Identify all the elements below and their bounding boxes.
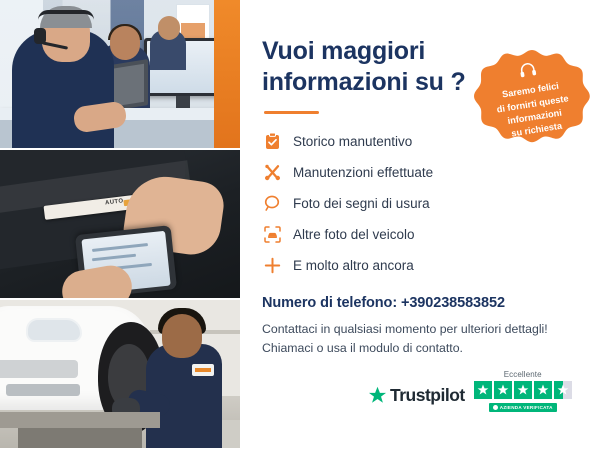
- verified-badge: AZIENDA VERIFICATA: [489, 403, 557, 412]
- star-5-half: [554, 381, 572, 399]
- badge-content: Saremo felici di fornirti queste informa…: [466, 34, 599, 167]
- rating-label: Eccellente: [504, 370, 542, 379]
- verified-label: AZIENDA VERIFICATA: [500, 405, 553, 410]
- phone-number[interactable]: Numero di telefono: +390238583852: [262, 295, 574, 311]
- scan-car-icon: [262, 224, 282, 244]
- plus-icon: [262, 255, 282, 275]
- list-item: E molto altro ancora: [262, 252, 574, 278]
- photo-call-center: [0, 0, 240, 148]
- callout-badge: Saremo felici di fornirti queste informa…: [474, 42, 590, 158]
- headset-icon: [518, 61, 538, 83]
- orange-banner: [214, 0, 240, 148]
- title-divider: [264, 111, 319, 114]
- list-item: Altre foto del veicolo: [262, 221, 574, 247]
- lift-platform: [0, 412, 160, 428]
- photo-column: [0, 0, 240, 450]
- trustpilot-name: Trustpilot: [390, 385, 465, 406]
- headline-line-2: informazioni su ?: [262, 68, 466, 96]
- feature-label: Storico manutentivo: [293, 134, 412, 149]
- feature-label: E molto altro ancora: [293, 258, 414, 273]
- magnifier-icon: [262, 193, 282, 213]
- star-2: [494, 381, 512, 399]
- photo-mechanic-tyre: [0, 300, 240, 448]
- contact-note-line-2: Chiamaci o usa il modulo di contatto.: [262, 341, 463, 355]
- feature-label: Foto dei segni di usura: [293, 196, 430, 211]
- trustpilot-star-icon: [368, 386, 387, 405]
- trustpilot-rating: Eccellente: [474, 370, 572, 412]
- star-rating: [474, 381, 572, 399]
- feature-label: Altre foto del veicolo: [293, 227, 415, 242]
- feature-label: Manutenzioni effettuate: [293, 165, 433, 180]
- foreground-agent: [12, 30, 114, 148]
- contact-note-line-1: Contattaci in qualsiasi momento per ulte…: [262, 322, 548, 336]
- content-panel: Vuoi maggiori informazioni su ? Storico …: [240, 0, 600, 450]
- star-3: [514, 381, 532, 399]
- monitor-stand: [176, 96, 190, 108]
- badge-text: Saremo felici di fornirti queste informa…: [488, 78, 579, 144]
- promo-card: Vuoi maggiori informazioni su ? Storico …: [0, 0, 600, 450]
- mechanic: [146, 344, 222, 448]
- list-item: Manutenzioni effettuate: [262, 159, 574, 185]
- lift-base: [18, 428, 142, 448]
- photo-inspection-strip: [0, 150, 240, 298]
- headline-line-1: Vuoi maggiori: [262, 37, 425, 65]
- page-title: Vuoi maggiori informazioni su ?: [262, 36, 492, 97]
- check-circle-icon: [493, 405, 498, 410]
- trustpilot-widget[interactable]: Trustpilot Eccellente: [368, 370, 572, 412]
- background-agent-3: [150, 30, 186, 70]
- tools-cross-icon: [262, 162, 282, 182]
- headlight: [26, 318, 82, 342]
- contact-note: Contattaci in qualsiasi momento per ulte…: [262, 320, 574, 358]
- star-1: [474, 381, 492, 399]
- star-4: [534, 381, 552, 399]
- list-item: Foto dei segni di usura: [262, 190, 574, 216]
- clipboard-check-icon: [262, 131, 282, 151]
- lower-grille: [6, 384, 80, 396]
- front-grille: [0, 360, 78, 378]
- trustpilot-logo: Trustpilot: [368, 385, 465, 412]
